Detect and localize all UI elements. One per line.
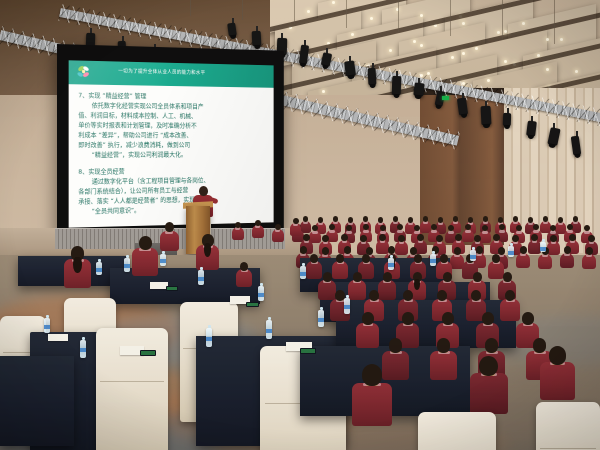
maroon-polo-shirt: [516, 253, 530, 268]
head: [474, 235, 481, 242]
head: [402, 312, 414, 325]
audience-member: [132, 236, 158, 276]
water-bottle: [258, 286, 264, 301]
maroon-polo-shirt: [252, 225, 264, 238]
head: [564, 246, 571, 254]
head: [360, 235, 367, 242]
head: [383, 272, 392, 282]
head: [479, 356, 498, 376]
smartphone: [140, 350, 156, 356]
suspension-wire: [190, 0, 191, 16]
head: [353, 272, 362, 282]
moving-head-spotlight: [227, 23, 237, 37]
moving-head-spotlight: [252, 31, 262, 46]
head: [550, 235, 557, 242]
slide-title: 一切为了提升全体从业人员的能力和水平: [118, 67, 270, 77]
audience-member: [272, 224, 284, 242]
head: [520, 246, 527, 254]
head: [255, 220, 261, 226]
white-covered-chair: [536, 402, 600, 450]
audience-member: [236, 262, 252, 287]
head: [473, 272, 482, 282]
audience-member: [232, 222, 244, 240]
head: [528, 217, 533, 223]
head: [569, 234, 576, 241]
moving-head-spotlight: [481, 106, 492, 125]
head: [498, 217, 503, 223]
maroon-polo-shirt: [560, 253, 574, 268]
head: [408, 217, 413, 223]
maroon-polo-shirt: [352, 383, 392, 426]
slide-header-band: 一切为了提升全体从业人员的能力和水平: [69, 60, 274, 88]
head: [323, 272, 332, 282]
head: [471, 290, 481, 301]
moving-head-spotlight: [503, 113, 511, 126]
maroon-polo-shirt: [132, 248, 158, 276]
maroon-polo-shirt: [470, 373, 508, 414]
head: [393, 216, 398, 222]
suspension-wire: [398, 0, 399, 32]
pinwheel-flower-logo: [74, 62, 93, 82]
head: [322, 247, 329, 255]
head: [440, 254, 448, 263]
head: [482, 312, 494, 325]
audience-member: [356, 312, 379, 348]
head: [549, 346, 567, 365]
water-bottle: [388, 258, 394, 270]
head: [455, 234, 462, 241]
head: [275, 224, 281, 230]
suspension-wire: [502, 0, 503, 40]
suspension-wire: [346, 0, 347, 28]
smartphone: [246, 302, 259, 307]
audience-member: [64, 246, 91, 288]
head: [522, 312, 534, 325]
moving-head-spotlight: [368, 68, 377, 85]
head: [348, 217, 353, 223]
head: [503, 272, 512, 282]
maroon-polo-shirt: [538, 254, 552, 269]
head: [512, 235, 519, 242]
head: [438, 217, 443, 223]
water-bottle: [198, 270, 204, 285]
head: [310, 254, 318, 263]
head: [513, 216, 518, 222]
head: [336, 254, 344, 263]
audience-member: [516, 246, 530, 268]
head: [436, 235, 443, 242]
head: [344, 246, 351, 254]
head: [493, 234, 500, 241]
head: [443, 272, 452, 282]
smartphone: [300, 348, 316, 354]
exit-sign: [442, 96, 449, 100]
head: [403, 290, 413, 301]
head: [453, 216, 458, 222]
maroon-polo-shirt: [236, 269, 252, 286]
moving-head-spotlight: [413, 82, 425, 96]
head: [165, 222, 174, 232]
head: [322, 235, 329, 242]
head: [573, 216, 578, 222]
head: [300, 246, 307, 254]
moving-head-spotlight: [526, 121, 537, 137]
maroon-polo-shirt: [356, 323, 379, 348]
maroon-polo-shirt: [272, 229, 284, 242]
moving-head-spotlight: [344, 60, 356, 76]
head: [362, 312, 374, 325]
suspension-wire: [242, 0, 243, 20]
head: [303, 234, 310, 241]
ponytail: [73, 257, 81, 274]
moving-head-spotlight: [392, 76, 402, 95]
head: [468, 217, 473, 223]
head: [341, 234, 348, 241]
water-bottle: [96, 262, 102, 275]
suspension-wire: [554, 0, 555, 44]
suspension-wire: [450, 0, 451, 36]
head: [586, 247, 593, 255]
head: [378, 217, 383, 223]
smartphone: [166, 286, 178, 291]
head: [240, 262, 248, 271]
maroon-polo-shirt: [430, 351, 457, 380]
head: [389, 338, 403, 353]
water-bottle: [300, 266, 306, 279]
notepad: [48, 334, 68, 341]
head: [139, 236, 152, 250]
water-bottle: [318, 310, 324, 327]
water-bottle: [430, 254, 436, 266]
maroon-polo-shirt: [160, 231, 179, 251]
audience-member: [290, 218, 301, 236]
moving-head-spotlight: [547, 127, 560, 146]
water-bottle: [160, 254, 166, 266]
head: [318, 217, 323, 223]
slide-line: 利成本 “差异”，帮助公司进行 “成本改善、: [78, 130, 267, 140]
slide-line: 即时改善” 执行，减少浪费消耗，做到公司: [78, 140, 267, 150]
water-bottle: [124, 258, 130, 272]
audience-member: [430, 338, 457, 380]
conference-hall-photo: 一切为了提升全体从业人员的能力和水平 7、实现 “精益经营” 管理依托数字化经营…: [0, 0, 600, 450]
head: [588, 235, 595, 242]
water-bottle: [540, 242, 546, 252]
head: [543, 216, 548, 222]
water-bottle: [206, 328, 212, 347]
audience-group: [0, 150, 600, 450]
head: [369, 290, 379, 301]
head: [531, 234, 538, 241]
head: [333, 216, 338, 222]
suspension-wire: [294, 0, 295, 24]
head: [235, 222, 241, 228]
audience-member: [540, 346, 575, 400]
head: [362, 254, 370, 263]
audience-member: [252, 220, 264, 238]
water-bottle: [44, 318, 50, 333]
head: [437, 338, 451, 353]
head: [423, 216, 428, 222]
head: [442, 312, 454, 325]
head: [398, 235, 405, 242]
water-bottle: [344, 298, 350, 314]
head: [363, 216, 368, 222]
navy-skirted-table: [0, 356, 74, 446]
head: [437, 290, 447, 301]
water-bottle: [508, 246, 514, 257]
maroon-polo-shirt: [540, 362, 575, 400]
head: [303, 216, 308, 222]
audience-member: [160, 222, 179, 251]
head: [417, 234, 424, 241]
head: [362, 364, 382, 386]
head: [492, 254, 500, 263]
water-bottle: [266, 320, 272, 339]
water-bottle: [80, 340, 86, 358]
head: [454, 247, 461, 255]
audience-member: [196, 234, 219, 270]
head: [293, 218, 299, 224]
audience-member: [470, 356, 508, 414]
maroon-polo-shirt: [582, 254, 596, 269]
audience-member: [560, 246, 574, 268]
head: [379, 234, 386, 241]
head: [388, 246, 395, 254]
white-covered-chair: [418, 412, 496, 450]
maroon-polo-shirt: [232, 227, 244, 240]
head: [476, 246, 483, 254]
head: [414, 254, 422, 263]
maroon-polo-shirt: [290, 223, 301, 235]
ponytail: [414, 279, 420, 290]
head: [485, 338, 499, 353]
audience-member: [352, 364, 392, 426]
head: [483, 216, 488, 222]
audience-member: [582, 247, 596, 269]
head: [558, 217, 563, 223]
slide-line: 单价等实时报表和计划管理，及时准确分析不: [78, 120, 267, 131]
head: [505, 290, 515, 301]
water-bottle: [470, 250, 476, 261]
